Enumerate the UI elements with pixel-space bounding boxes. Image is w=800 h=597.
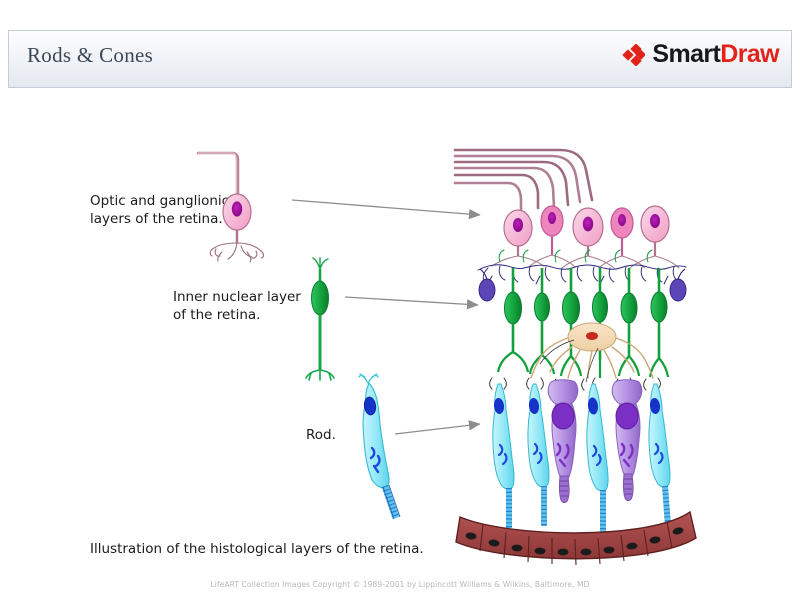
callout-label-inner-nuclear: Inner nuclear layer of the retina.	[173, 289, 301, 325]
ganglion-cell	[504, 210, 532, 256]
outer-plexiform-layer	[490, 378, 661, 390]
retina-stack	[455, 150, 696, 565]
photoreceptor-layer	[493, 380, 670, 532]
isolated-rod-cell	[359, 374, 400, 519]
copyright-notice: LifeART Collection Images Copyright © 19…	[0, 580, 800, 589]
rod-photoreceptor	[528, 384, 549, 526]
smartdraw-word-smart: Smart	[652, 40, 720, 68]
bipolar-cell	[498, 268, 528, 372]
smartdraw-diamond-icon	[621, 44, 645, 66]
arrow-to-ganglion-icon	[292, 200, 480, 215]
callout-arrows	[292, 200, 480, 434]
inner-plexiform-layer	[478, 250, 686, 284]
smartdraw-logo: SmartDraw	[621, 42, 779, 67]
cone-photoreceptor	[548, 380, 578, 503]
amacrine-cell-layer	[479, 269, 686, 301]
ganglion-cell	[541, 206, 563, 255]
optic-nerve-fiber-layer	[455, 150, 592, 210]
pigment-epithelium-layer	[456, 512, 696, 565]
isolated-bipolar-cell	[306, 258, 334, 380]
inner-nuclear-layer	[498, 268, 668, 378]
cone-photoreceptor	[612, 380, 642, 501]
ganglion-cell	[641, 206, 669, 256]
rod-photoreceptor	[493, 384, 514, 528]
page-title: Rods & Cones	[27, 43, 153, 68]
smartdraw-wordmark: SmartDraw	[652, 42, 779, 67]
slide-header: Rods & Cones SmartDraw	[8, 30, 792, 88]
callout-label-ganglion: Optic and ganglionic layers of the retin…	[90, 193, 229, 229]
slide-caption: Illustration of the histological layers …	[90, 541, 424, 557]
rod-photoreceptor	[587, 384, 608, 532]
bipolar-cell	[593, 268, 608, 378]
bipolar-cell	[561, 268, 581, 376]
ganglion-cell	[573, 208, 603, 256]
arrow-to-inner-nuclear-icon	[345, 297, 478, 305]
slide-canvas: Rods & Cones SmartDraw Optic and ganglio…	[0, 0, 800, 597]
horizontal-cell	[531, 323, 653, 382]
bipolar-cell	[650, 268, 668, 377]
ganglion-cell	[611, 208, 633, 256]
bipolar-cell	[530, 268, 554, 374]
ganglion-cell-layer	[504, 206, 669, 256]
smartdraw-word-draw: Draw	[720, 40, 779, 68]
arrow-to-rod-icon	[395, 424, 480, 434]
retina-histology-illustration	[0, 0, 800, 597]
callout-label-rod: Rod.	[306, 427, 336, 445]
bipolar-cell	[619, 268, 639, 376]
rod-photoreceptor	[649, 384, 670, 526]
